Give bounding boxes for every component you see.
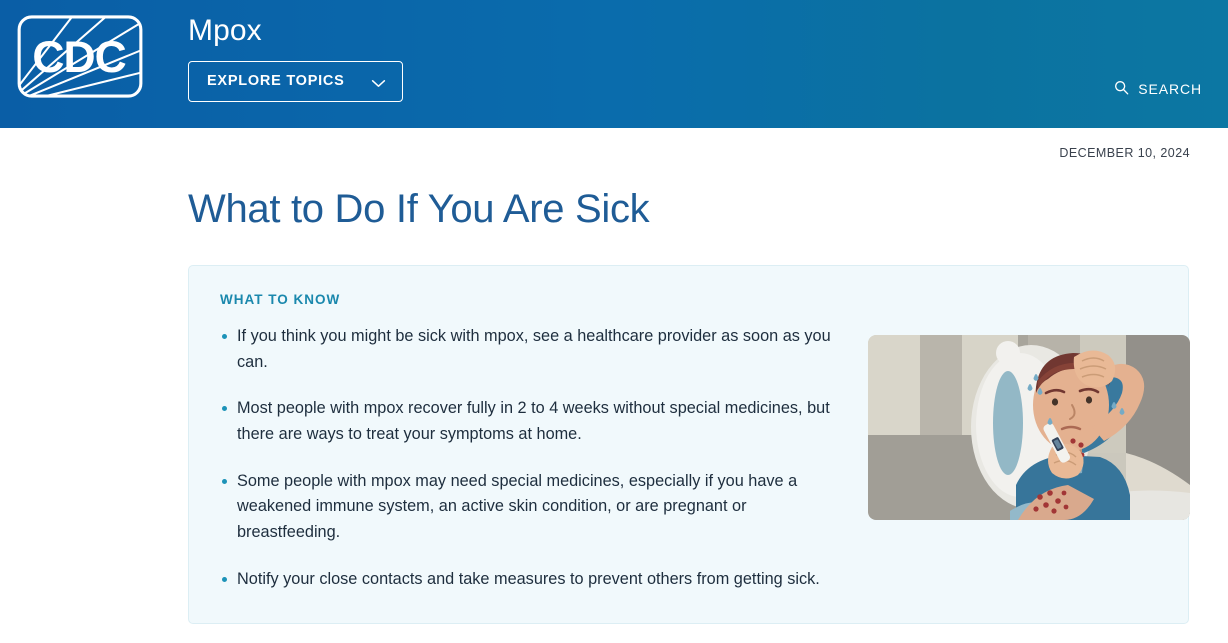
list-item-text: Most people with mpox recover fully in 2…	[237, 399, 830, 443]
search-button[interactable]: SEARCH	[1114, 80, 1202, 98]
bullet-dot-icon	[222, 577, 227, 582]
page-content: DECEMBER 10, 2024 What to Do If You Are …	[0, 128, 1228, 624]
chevron-down-icon	[371, 77, 386, 86]
brand-block: Mpox EXPLORE TOPICS	[188, 16, 403, 102]
explore-topics-button[interactable]: EXPLORE TOPICS	[188, 61, 403, 102]
what-to-know-card: WHAT TO KNOW If you think you might be s…	[188, 265, 1189, 624]
search-label: SEARCH	[1138, 81, 1202, 97]
what-to-know-body: If you think you might be sick with mpox…	[204, 324, 1158, 593]
list-item: Most people with mpox recover fully in 2…	[204, 396, 849, 447]
sick-person-illustration-svg	[868, 335, 1190, 520]
list-item-text: If you think you might be sick with mpox…	[237, 327, 831, 371]
cdc-logo-link[interactable]: CDC	[16, 14, 144, 104]
publish-date: DECEMBER 10, 2024	[0, 128, 1228, 160]
sick-person-in-bed-illustration	[868, 335, 1190, 520]
bullet-dot-icon	[222, 479, 227, 484]
bullet-dot-icon	[222, 406, 227, 411]
list-item: Some people with mpox may need special m…	[204, 469, 849, 546]
list-item: If you think you might be sick with mpox…	[204, 324, 849, 375]
what-to-know-label: WHAT TO KNOW	[220, 292, 1158, 307]
list-item-text: Notify your close contacts and take meas…	[237, 570, 820, 588]
cdc-logo-icon: CDC	[16, 14, 144, 99]
explore-topics-label: EXPLORE TOPICS	[207, 74, 345, 89]
svg-text:CDC: CDC	[32, 33, 125, 82]
what-to-know-list: If you think you might be sick with mpox…	[204, 324, 849, 593]
site-header: CDC Mpox EXPLORE TOPICS SEARCH	[0, 0, 1228, 128]
list-item: Notify your close contacts and take meas…	[204, 567, 849, 593]
list-item-text: Some people with mpox may need special m…	[237, 472, 797, 541]
page-title: What to Do If You Are Sick	[188, 187, 1228, 232]
search-icon	[1114, 80, 1129, 98]
site-title: Mpox	[188, 16, 262, 46]
bullet-dot-icon	[222, 334, 227, 339]
